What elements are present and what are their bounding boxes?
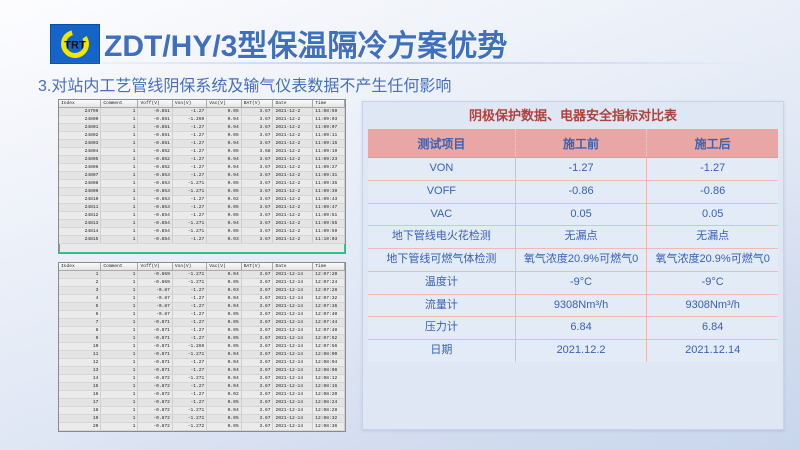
table-cell: 0.05	[207, 415, 241, 423]
table-cell: 3.67	[241, 172, 273, 180]
table-row[interactable]: 248021-0.851-1.270.053.672021-12-211:09:…	[59, 132, 345, 140]
table-cell: -1.27	[172, 132, 206, 140]
table-row[interactable]: 121-0.871-1.270.043.672021-12-1412:08:04	[59, 359, 345, 367]
table-cell: 12:08:28	[313, 407, 345, 415]
table-cell: -0.871	[138, 359, 172, 367]
column-header-vacv: Vac(V)	[207, 263, 241, 271]
table-cell: -1.271	[172, 407, 206, 415]
table-cell: 12:07:44	[313, 319, 345, 327]
table-cell: 1	[101, 415, 138, 423]
table-cell: 2021-12-14	[273, 391, 313, 399]
table-row[interactable]: 61-0.87-1.270.053.672021-12-1412:07:40	[59, 311, 345, 319]
table-cell: -0.851	[138, 116, 172, 124]
table-cell: 2021-12-14	[273, 335, 313, 343]
table-cell: -0.853	[138, 188, 172, 196]
table-cell: 11:09:47	[313, 204, 345, 212]
table-cell: -1.27	[172, 319, 206, 327]
table-row[interactable]: 201-0.872-1.2720.053.672021-12-1412:08:3…	[59, 423, 345, 431]
table-cell: 3.67	[241, 196, 273, 204]
comparison-body: VON-1.27-1.27VOFF-0.86-0.86VAC0.050.05地下…	[368, 158, 778, 362]
title-divider	[44, 62, 756, 64]
table-cell: 11:09:03	[313, 116, 345, 124]
table-cell: -1.269	[172, 116, 206, 124]
table-cell: -0.872	[138, 399, 172, 407]
column-header-date: Date	[273, 100, 313, 108]
comparison-value: -1.27	[647, 158, 778, 181]
comparison-row: 地下管线电火花检测无漏点无漏点	[368, 226, 778, 249]
table-row[interactable]: 248101-0.853-1.270.023.672021-12-211:09:…	[59, 196, 345, 204]
column-header-voffv: Voff(V)	[138, 100, 172, 108]
table-cell: 3.67	[241, 279, 273, 287]
column-header-vacv: Vac(V)	[207, 100, 241, 108]
table-cell: 0.04	[207, 156, 241, 164]
table-cell: 0.05	[207, 108, 241, 116]
table-cell: 3.67	[241, 343, 273, 351]
table-cell: -1.271	[172, 279, 206, 287]
table-cell: 2021-12-2	[273, 228, 313, 236]
table-row[interactable]: 211-0.872-1.270.043.672021-12-1412:08:40	[59, 431, 345, 433]
table-cell: -1.27	[172, 399, 206, 407]
comparison-panel: 阴极保护数据、电器安全指标对比表 测试项目施工前施工后 VON-1.27-1.2…	[362, 101, 784, 430]
table-cell: 11:10:03	[313, 236, 345, 244]
table-cell: 1	[101, 180, 138, 188]
table-cell: 3.67	[241, 295, 273, 303]
table-cell: 24812	[59, 212, 101, 220]
table-cell: 3.67	[241, 359, 273, 367]
column-header-batv: BAT(V)	[241, 100, 273, 108]
table-cell: 1	[101, 335, 138, 343]
column-header-index: Index	[59, 100, 101, 108]
table-cell: -0.871	[138, 367, 172, 375]
table-cell: 3.67	[241, 228, 273, 236]
table-row[interactable]: 248131-0.854-1.2710.043.672021-12-211:09…	[59, 220, 345, 228]
table-cell: 2021-12-2	[273, 156, 313, 164]
table-cell: 12	[59, 359, 101, 367]
table-row[interactable]: 91-0.871-1.270.053.672021-12-1412:07:52	[59, 335, 345, 343]
table-cell: 3.67	[241, 188, 273, 196]
table-cell: 0.03	[207, 287, 241, 295]
table-cell: 0.05	[207, 319, 241, 327]
table-cell: 10	[59, 343, 101, 351]
comparison-value: -9°C	[515, 271, 647, 294]
comparison-item-label: 流量计	[368, 294, 515, 317]
table-cell: -0.871	[138, 343, 172, 351]
table-cell: 1	[101, 367, 138, 375]
table-cell: 12:07:28	[313, 287, 345, 295]
table-cell: 3.67	[241, 156, 273, 164]
table-cell: 2021-12-14	[273, 431, 313, 433]
table-cell: 1	[101, 228, 138, 236]
column-header-comment: Comment	[101, 100, 138, 108]
table-row[interactable]: 191-0.872-1.2710.053.672021-12-1412:08:3…	[59, 415, 345, 423]
table-cell: 0.04	[207, 375, 241, 383]
table-cell: 11	[59, 351, 101, 359]
table-cell: 2021-12-2	[273, 188, 313, 196]
table-cell: 19	[59, 415, 101, 423]
table-cell: 12:07:40	[313, 311, 345, 319]
table-row[interactable]: 171-0.872-1.270.053.672021-12-1412:08:24	[59, 399, 345, 407]
comparison-column-header: 施工前	[515, 129, 647, 158]
table-cell: 14	[59, 375, 101, 383]
table-cell: 24803	[59, 140, 101, 148]
logger-table-after: IndexCommentVoff(V)Von(V)Vac(V)BAT(V)Dat…	[59, 263, 345, 432]
table-row[interactable]: 101-0.871-1.2690.053.672021-12-1412:07:5…	[59, 343, 345, 351]
comparison-item-label: VON	[368, 158, 515, 181]
table-body: 11-0.869-1.2710.043.672021-12-1412:07:20…	[59, 271, 345, 433]
table-cell: -0.854	[138, 236, 172, 244]
logo-text: TRT	[64, 40, 86, 52]
table-cell: 3.67	[241, 383, 273, 391]
table-cell: 2021-12-14	[273, 383, 313, 391]
comparison-value: 6.84	[515, 317, 647, 340]
page-title: ZDT/HY/3型保温隔冷方案优势	[104, 21, 507, 65]
logger-grid-before[interactable]: IndexCommentVoff(V)Von(V)Vac(V)BAT(V)Dat…	[58, 99, 346, 254]
table-row[interactable]: 247991-0.851-1.270.053.672021-12-211:08:…	[59, 108, 345, 116]
column-header-date: Date	[273, 263, 313, 271]
table-cell: 2021-12-14	[273, 407, 313, 415]
table-cell: 2021-12-2	[273, 236, 313, 244]
table-cell: 3.67	[241, 407, 273, 415]
table-row[interactable]: 248031-0.851-1.270.043.672021-12-211:09:…	[59, 140, 345, 148]
table-row[interactable]: 51-0.87-1.270.043.672021-12-1412:07:36	[59, 303, 345, 311]
table-cell: -0.87	[138, 295, 172, 303]
table-cell: 2021-12-2	[273, 164, 313, 172]
table-cell: 3.67	[241, 116, 273, 124]
slide-header: TRT ZDT/HY/3型保温隔冷方案优势	[0, 8, 800, 60]
table-cell: 0.05	[207, 399, 241, 407]
table-cell: 2021-12-2	[273, 140, 313, 148]
comparison-value: 9308Nm³/h	[515, 294, 647, 317]
table-cell: 3.67	[241, 180, 273, 188]
table-row[interactable]: 248091-0.853-1.2710.053.672021-12-211:09…	[59, 188, 345, 196]
table-cell: 1	[101, 327, 138, 335]
table-cell: 1	[101, 287, 138, 295]
table-row[interactable]: 248041-0.852-1.270.053.682021-12-211:09:…	[59, 148, 345, 156]
table-cell: -0.872	[138, 423, 172, 431]
table-cell: 1	[101, 108, 138, 116]
table-cell: 12:08:04	[313, 359, 345, 367]
table-cell: 11:09:43	[313, 196, 345, 204]
comparison-header-row: 测试项目施工前施工后	[368, 129, 778, 158]
comparison-column-header: 施工后	[647, 129, 778, 158]
table-cell: 3.67	[241, 423, 273, 431]
table-cell: 21	[59, 431, 101, 433]
table-row[interactable]: 248071-0.853-1.270.043.672021-12-211:09:…	[59, 172, 345, 180]
comparison-column-header: 测试项目	[368, 129, 515, 158]
table-cell: 1	[101, 375, 138, 383]
table-row[interactable]: 248081-0.853-1.2710.053.672021-12-211:09…	[59, 180, 345, 188]
table-cell: 3.67	[241, 415, 273, 423]
table-cell: -1.269	[172, 343, 206, 351]
table-cell: 24801	[59, 124, 101, 132]
table-cell: -1.27	[172, 367, 206, 375]
table-cell: 16	[59, 391, 101, 399]
table-cell: 2021-12-14	[273, 399, 313, 407]
table-cell: 2021-12-14	[273, 375, 313, 383]
table-header-row: IndexCommentVoff(V)Von(V)Vac(V)BAT(V)Dat…	[59, 100, 345, 108]
table-cell: -1.27	[172, 204, 206, 212]
table-row[interactable]: 81-0.871-1.270.053.672021-12-1412:07:48	[59, 327, 345, 335]
table-cell: 0.05	[207, 212, 241, 220]
table-cell: 1	[101, 311, 138, 319]
table-cell: -0.854	[138, 228, 172, 236]
table-cell: 2021-12-14	[273, 415, 313, 423]
table-row[interactable]: 248151-0.854-1.270.033.672021-12-211:10:…	[59, 236, 345, 244]
table-cell: 11:09:51	[313, 212, 345, 220]
comparison-value: -0.86	[647, 180, 778, 203]
comparison-value: 氧气浓度20.9%可燃气0	[647, 249, 778, 272]
table-cell: 2021-12-2	[273, 124, 313, 132]
table-cell: 0.05	[207, 180, 241, 188]
table-cell: 0.05	[207, 279, 241, 287]
table-cell: -0.851	[138, 124, 172, 132]
table-cell: 2021-12-2	[273, 108, 313, 116]
table-cell: 2021-12-14	[273, 351, 313, 359]
table-cell: 1	[101, 236, 138, 244]
table-cell: 3.67	[241, 335, 273, 343]
table-cell: -0.872	[138, 431, 172, 433]
table-row[interactable]: 248141-0.854-1.2710.053.672021-12-211:09…	[59, 228, 345, 236]
table-cell: 11:09:23	[313, 156, 345, 164]
table-cell: 12:08:08	[313, 367, 345, 375]
table-cell: 24810	[59, 196, 101, 204]
table-cell: 3.67	[241, 303, 273, 311]
logger-grid-after[interactable]: IndexCommentVoff(V)Von(V)Vac(V)BAT(V)Dat…	[58, 262, 346, 432]
table-row[interactable]: 248111-0.853-1.270.053.672021-12-211:09:…	[59, 204, 345, 212]
table-cell: -0.872	[138, 375, 172, 383]
table-cell: -1.271	[172, 271, 206, 279]
table-cell: 12:07:48	[313, 327, 345, 335]
comparison-row: 温度计-9°C-9°C	[368, 271, 778, 294]
table-cell: -1.27	[172, 212, 206, 220]
table-row[interactable]: 11-0.869-1.2710.043.672021-12-1412:07:20	[59, 271, 345, 279]
table-cell: -1.27	[172, 108, 206, 116]
table-row[interactable]: 161-0.872-1.270.023.672021-12-1412:08:20	[59, 391, 345, 399]
table-cell: 1	[101, 271, 138, 279]
table-cell: 0.04	[207, 359, 241, 367]
table-cell: 12:08:24	[313, 399, 345, 407]
table-row[interactable]: 141-0.872-1.2710.043.672021-12-1412:08:1…	[59, 375, 345, 383]
table-cell: 2021-12-2	[273, 116, 313, 124]
table-cell: 3	[59, 287, 101, 295]
table-row[interactable]: 181-0.872-1.2710.043.672021-12-1412:08:2…	[59, 407, 345, 415]
table-cell: 0.04	[207, 124, 241, 132]
table-cell: 2	[59, 279, 101, 287]
table-cell: -0.87	[138, 311, 172, 319]
table-row[interactable]: 31-0.87-1.270.033.672021-12-1412:07:28	[59, 287, 345, 295]
comparison-value: 6.84	[647, 317, 778, 340]
table-cell: 2021-12-14	[273, 423, 313, 431]
table-cell: 8	[59, 327, 101, 335]
table-cell: 12:07:20	[313, 271, 345, 279]
table-cell: -0.851	[138, 140, 172, 148]
table-cell: 1	[101, 156, 138, 164]
table-cell: -0.872	[138, 415, 172, 423]
table-cell: 24811	[59, 204, 101, 212]
comparison-item-label: 温度计	[368, 271, 515, 294]
table-cell: -0.872	[138, 407, 172, 415]
table-cell: 0.03	[207, 236, 241, 244]
table-cell: 0.05	[207, 423, 241, 431]
table-cell: 3.67	[241, 140, 273, 148]
table-cell: 12:08:00	[313, 351, 345, 359]
comparison-value: 0.05	[515, 203, 647, 226]
table-cell: -1.271	[172, 351, 206, 359]
table-row[interactable]: 248001-0.851-1.2690.043.672021-12-211:09…	[59, 116, 345, 124]
table-cell: 24799	[59, 108, 101, 116]
comparison-row: 日期2021.12.22021.12.14	[368, 340, 778, 362]
slide-subtitle: 3.对站内工艺管线阴保系统及输气仪表数据不产生任何影响	[38, 72, 451, 96]
table-cell: 11:09:07	[313, 124, 345, 132]
table-cell: 1	[101, 351, 138, 359]
table-cell: 3.67	[241, 164, 273, 172]
table-cell: 1	[101, 383, 138, 391]
table-cell: 11:09:39	[313, 188, 345, 196]
column-header-index: Index	[59, 263, 101, 271]
table-cell: 3.67	[241, 351, 273, 359]
table-cell: 1	[101, 399, 138, 407]
table-cell: 11:09:31	[313, 172, 345, 180]
column-header-vonv: Von(V)	[172, 263, 206, 271]
table-row[interactable]: 151-0.872-1.270.043.672021-12-1412:08:16	[59, 383, 345, 391]
table-cell: 0.04	[207, 367, 241, 375]
table-cell: 0.04	[207, 116, 241, 124]
table-cell: 3.67	[241, 391, 273, 399]
table-cell: 11:09:15	[313, 140, 345, 148]
table-cell: -0.87	[138, 303, 172, 311]
table-cell: 2021-12-2	[273, 220, 313, 228]
table-cell: 2021-12-14	[273, 271, 313, 279]
table-cell: 1	[101, 204, 138, 212]
table-row[interactable]: 248051-0.852-1.270.043.672021-12-211:09:…	[59, 156, 345, 164]
table-cell: 1	[101, 279, 138, 287]
table-cell: -1.27	[172, 164, 206, 172]
table-cell: -1.27	[172, 303, 206, 311]
table-cell: 11:09:19	[313, 148, 345, 156]
comparison-value: 无漏点	[647, 226, 778, 249]
comparison-title: 阴极保护数据、电器安全指标对比表	[363, 102, 783, 129]
table-cell: 0.05	[207, 148, 241, 156]
comparison-item-label: 地下管线电火花检测	[368, 226, 515, 249]
table-cell: 12:08:36	[313, 423, 345, 431]
table-row[interactable]: 21-0.869-1.2710.053.672021-12-1412:07:24	[59, 279, 345, 287]
table-cell: 12:08:20	[313, 391, 345, 399]
table-cell: 12:08:32	[313, 415, 345, 423]
comparison-value: -1.27	[515, 158, 647, 181]
table-cell: 0.05	[207, 311, 241, 319]
table-cell: 0.04	[207, 431, 241, 433]
table-cell: 3.67	[241, 220, 273, 228]
table-cell: 1	[101, 343, 138, 351]
table-row[interactable]: 41-0.87-1.270.043.672021-12-1412:07:32	[59, 295, 345, 303]
table-cell: 12:08:16	[313, 383, 345, 391]
table-cell: 3.67	[241, 204, 273, 212]
table-cell: 12:07:56	[313, 343, 345, 351]
table-cell: -0.852	[138, 148, 172, 156]
table-cell: 1	[101, 220, 138, 228]
table-cell: -1.27	[172, 148, 206, 156]
table-cell: 0.05	[207, 188, 241, 196]
table-cell: -0.871	[138, 319, 172, 327]
column-header-voffv: Voff(V)	[138, 263, 172, 271]
table-cell: 1	[101, 319, 138, 327]
table-cell: 2021-12-14	[273, 359, 313, 367]
table-cell: 3.67	[241, 367, 273, 375]
table-cell: 20	[59, 423, 101, 431]
table-cell: 0.04	[207, 303, 241, 311]
table-cell: 1	[101, 140, 138, 148]
table-cell: 0.05	[207, 343, 241, 351]
table-row[interactable]: 71-0.871-1.270.053.672021-12-1412:07:44	[59, 319, 345, 327]
table-cell: 3.67	[241, 431, 273, 433]
table-cell: 0.05	[207, 335, 241, 343]
table-cell: 1	[101, 132, 138, 140]
table-cell: 1	[101, 188, 138, 196]
table-cell: -1.27	[172, 287, 206, 295]
table-cell: 0.04	[207, 172, 241, 180]
table-cell: -0.853	[138, 172, 172, 180]
table-row[interactable]: 248011-0.851-1.270.043.672021-12-211:09:…	[59, 124, 345, 132]
table-cell: 24808	[59, 180, 101, 188]
table-row[interactable]: 111-0.871-1.2710.043.672021-12-1412:08:0…	[59, 351, 345, 359]
table-cell: 1	[101, 196, 138, 204]
table-row[interactable]: 248121-0.854-1.270.053.672021-12-211:09:…	[59, 212, 345, 220]
table-cell: 2021-12-14	[273, 279, 313, 287]
table-cell: 2021-12-14	[273, 303, 313, 311]
table-cell: 3.67	[241, 327, 273, 335]
table-cell: -1.271	[172, 220, 206, 228]
table-body: 247991-0.851-1.270.053.672021-12-211:08:…	[59, 108, 345, 244]
comparison-value: 2021.12.2	[515, 340, 647, 362]
table-cell: 3.67	[241, 108, 273, 116]
table-row[interactable]: 248061-0.852-1.270.043.672021-12-211:09:…	[59, 164, 345, 172]
table-cell: 11:09:35	[313, 180, 345, 188]
table-cell: 9	[59, 335, 101, 343]
table-cell: 1	[101, 303, 138, 311]
table-cell: -0.851	[138, 108, 172, 116]
table-cell: 7	[59, 319, 101, 327]
table-cell: 0.04	[207, 383, 241, 391]
table-cell: 0.02	[207, 196, 241, 204]
table-cell: 3.67	[241, 375, 273, 383]
table-cell: -1.27	[172, 335, 206, 343]
comparison-row: 压力计6.846.84	[368, 317, 778, 340]
logger-table-before: IndexCommentVoff(V)Von(V)Vac(V)BAT(V)Dat…	[59, 100, 345, 244]
table-cell: -0.87	[138, 287, 172, 295]
trt-logo: TRT	[50, 24, 100, 64]
table-cell: 5	[59, 303, 101, 311]
table-cell: 15	[59, 383, 101, 391]
comparison-value: 无漏点	[515, 226, 647, 249]
table-cell: 12:08:12	[313, 375, 345, 383]
table-cell: 12:07:52	[313, 335, 345, 343]
table-cell: -0.853	[138, 196, 172, 204]
table-cell: -0.869	[138, 279, 172, 287]
table-cell: 2021-12-14	[273, 367, 313, 375]
table-cell: 1	[101, 172, 138, 180]
table-cell: 12:07:32	[313, 295, 345, 303]
table-row[interactable]: 131-0.871-1.270.043.672021-12-1412:08:08	[59, 367, 345, 375]
table-cell: 3.68	[241, 148, 273, 156]
table-cell: 12:07:36	[313, 303, 345, 311]
table-cell: 0.04	[207, 164, 241, 172]
table-cell: 0.04	[207, 271, 241, 279]
table-cell: 11:09:11	[313, 132, 345, 140]
table-cell: -0.872	[138, 391, 172, 399]
table-cell: -0.853	[138, 204, 172, 212]
table-cell: -0.871	[138, 351, 172, 359]
column-header-comment: Comment	[101, 263, 138, 271]
